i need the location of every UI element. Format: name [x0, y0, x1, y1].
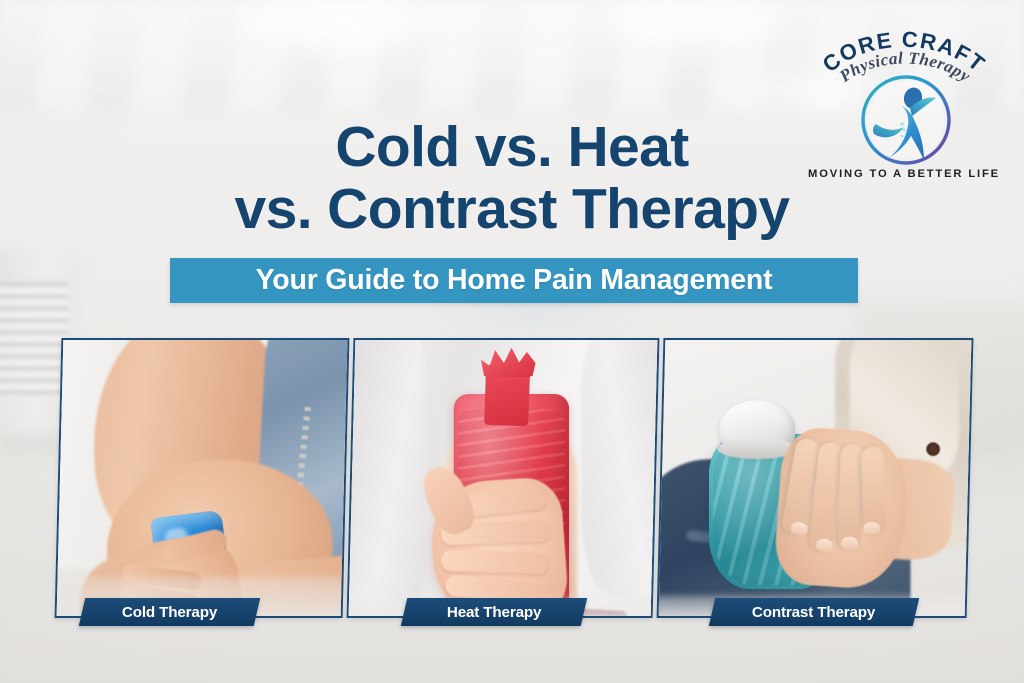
- caption-heat-therapy-label: Heat Therapy: [447, 604, 541, 621]
- page-title: Cold vs. Heat vs. Contrast Therapy: [0, 116, 1024, 240]
- title-line-2: vs. Contrast Therapy: [0, 178, 1024, 240]
- subtitle-banner: Your Guide to Home Pain Management: [170, 258, 858, 303]
- caption-cold-therapy: Cold Therapy: [79, 598, 260, 626]
- photo-panel-contrast-therapy[interactable]: [657, 338, 974, 618]
- photo-cold-therapy: [55, 338, 350, 618]
- subtitle-text: Your Guide to Home Pain Management: [256, 264, 773, 297]
- photo-panel-heat-therapy[interactable]: [347, 338, 660, 618]
- title-line-1: Cold vs. Heat: [0, 116, 1024, 178]
- photo-heat-therapy: [347, 338, 660, 618]
- button-detail: [926, 442, 940, 456]
- photo-contrast-therapy: [657, 338, 974, 618]
- photo-panel-row: [0, 330, 1024, 630]
- photo-panel-cold-therapy[interactable]: [55, 338, 350, 618]
- caption-heat-therapy: Heat Therapy: [401, 598, 587, 626]
- infographic-banner: CORE CRAFT Physical Therapy: [0, 0, 1024, 683]
- caption-contrast-therapy: Contrast Therapy: [709, 598, 919, 626]
- caption-cold-therapy-label: Cold Therapy: [122, 604, 217, 621]
- caption-contrast-therapy-label: Contrast Therapy: [752, 604, 875, 621]
